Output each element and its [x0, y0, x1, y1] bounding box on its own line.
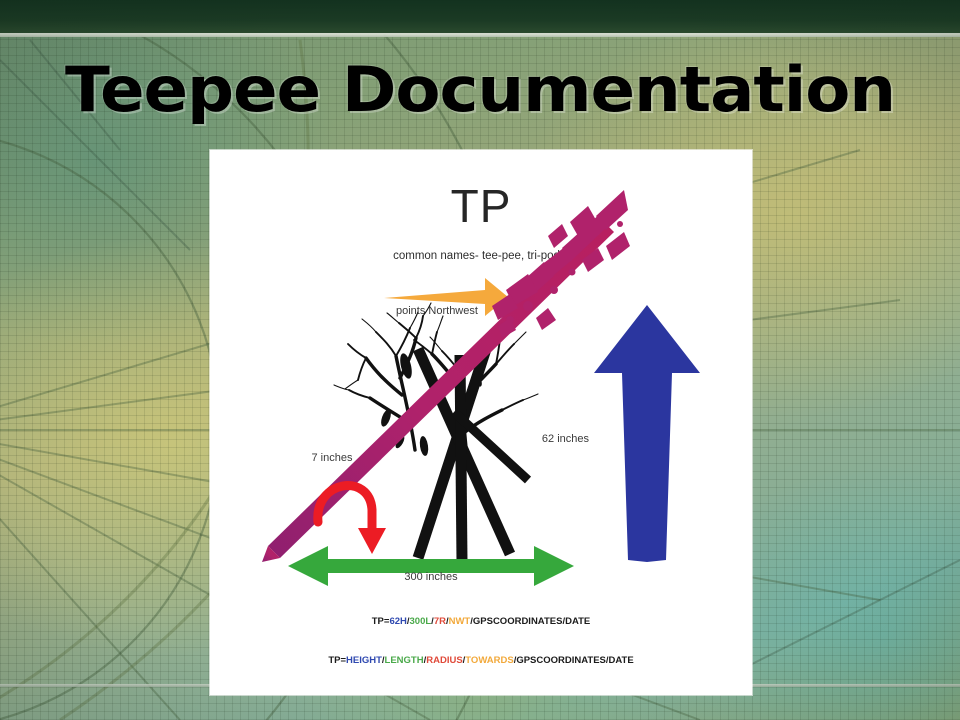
formula-short: TP=62H/300L/7R/NWT/GPSCOORDINATES/DATE	[372, 616, 591, 627]
length-label: 300 inches	[404, 571, 458, 583]
radius-label: 7 inches	[312, 452, 353, 464]
formula-short-part-0: 62H	[389, 616, 407, 627]
formula-short-part-1: 300L	[410, 616, 432, 627]
teepee-tripod	[418, 349, 528, 562]
diagram-heading: TP	[451, 180, 512, 232]
formula-long-part-2: RADIUS	[426, 655, 462, 666]
blue-height-arrow	[594, 305, 700, 562]
formula-long-suffix: /GPSCOORDINATES/DATE	[514, 655, 634, 666]
formula-long: TP=HEIGHT/LENGTH/RADIUS/TOWARDS/GPSCOORD…	[328, 655, 633, 666]
formula-long-part-1: LENGTH	[385, 655, 424, 666]
formula-short-prefix: TP=	[372, 616, 390, 627]
top-dark-band	[0, 0, 960, 34]
slide: Teepee Documentation TP common names- te…	[0, 0, 960, 720]
page-title: Teepee Documentation	[0, 58, 960, 122]
formula-long-part-3: TOWARDS	[465, 655, 513, 666]
top-rule	[0, 33, 960, 37]
red-radius-arrow	[318, 486, 386, 554]
formula-short-suffix: /GPSCOORDINATES/DATE	[470, 616, 590, 627]
formula-long-prefix: TP=	[328, 655, 346, 666]
formula-long-part-0: HEIGHT	[346, 655, 382, 666]
diagram-panel: TP common names- tee-pee, tri-pods, poin…	[210, 150, 752, 695]
orange-arrow-label: points Northwest	[396, 305, 478, 317]
height-label: 62 inches	[542, 433, 590, 445]
formula-short-part-2: 7R	[434, 616, 446, 627]
formula-short-part-3: NWT	[449, 616, 471, 627]
diagram-subtitle: common names- tee-pee, tri-pods,	[393, 250, 569, 262]
